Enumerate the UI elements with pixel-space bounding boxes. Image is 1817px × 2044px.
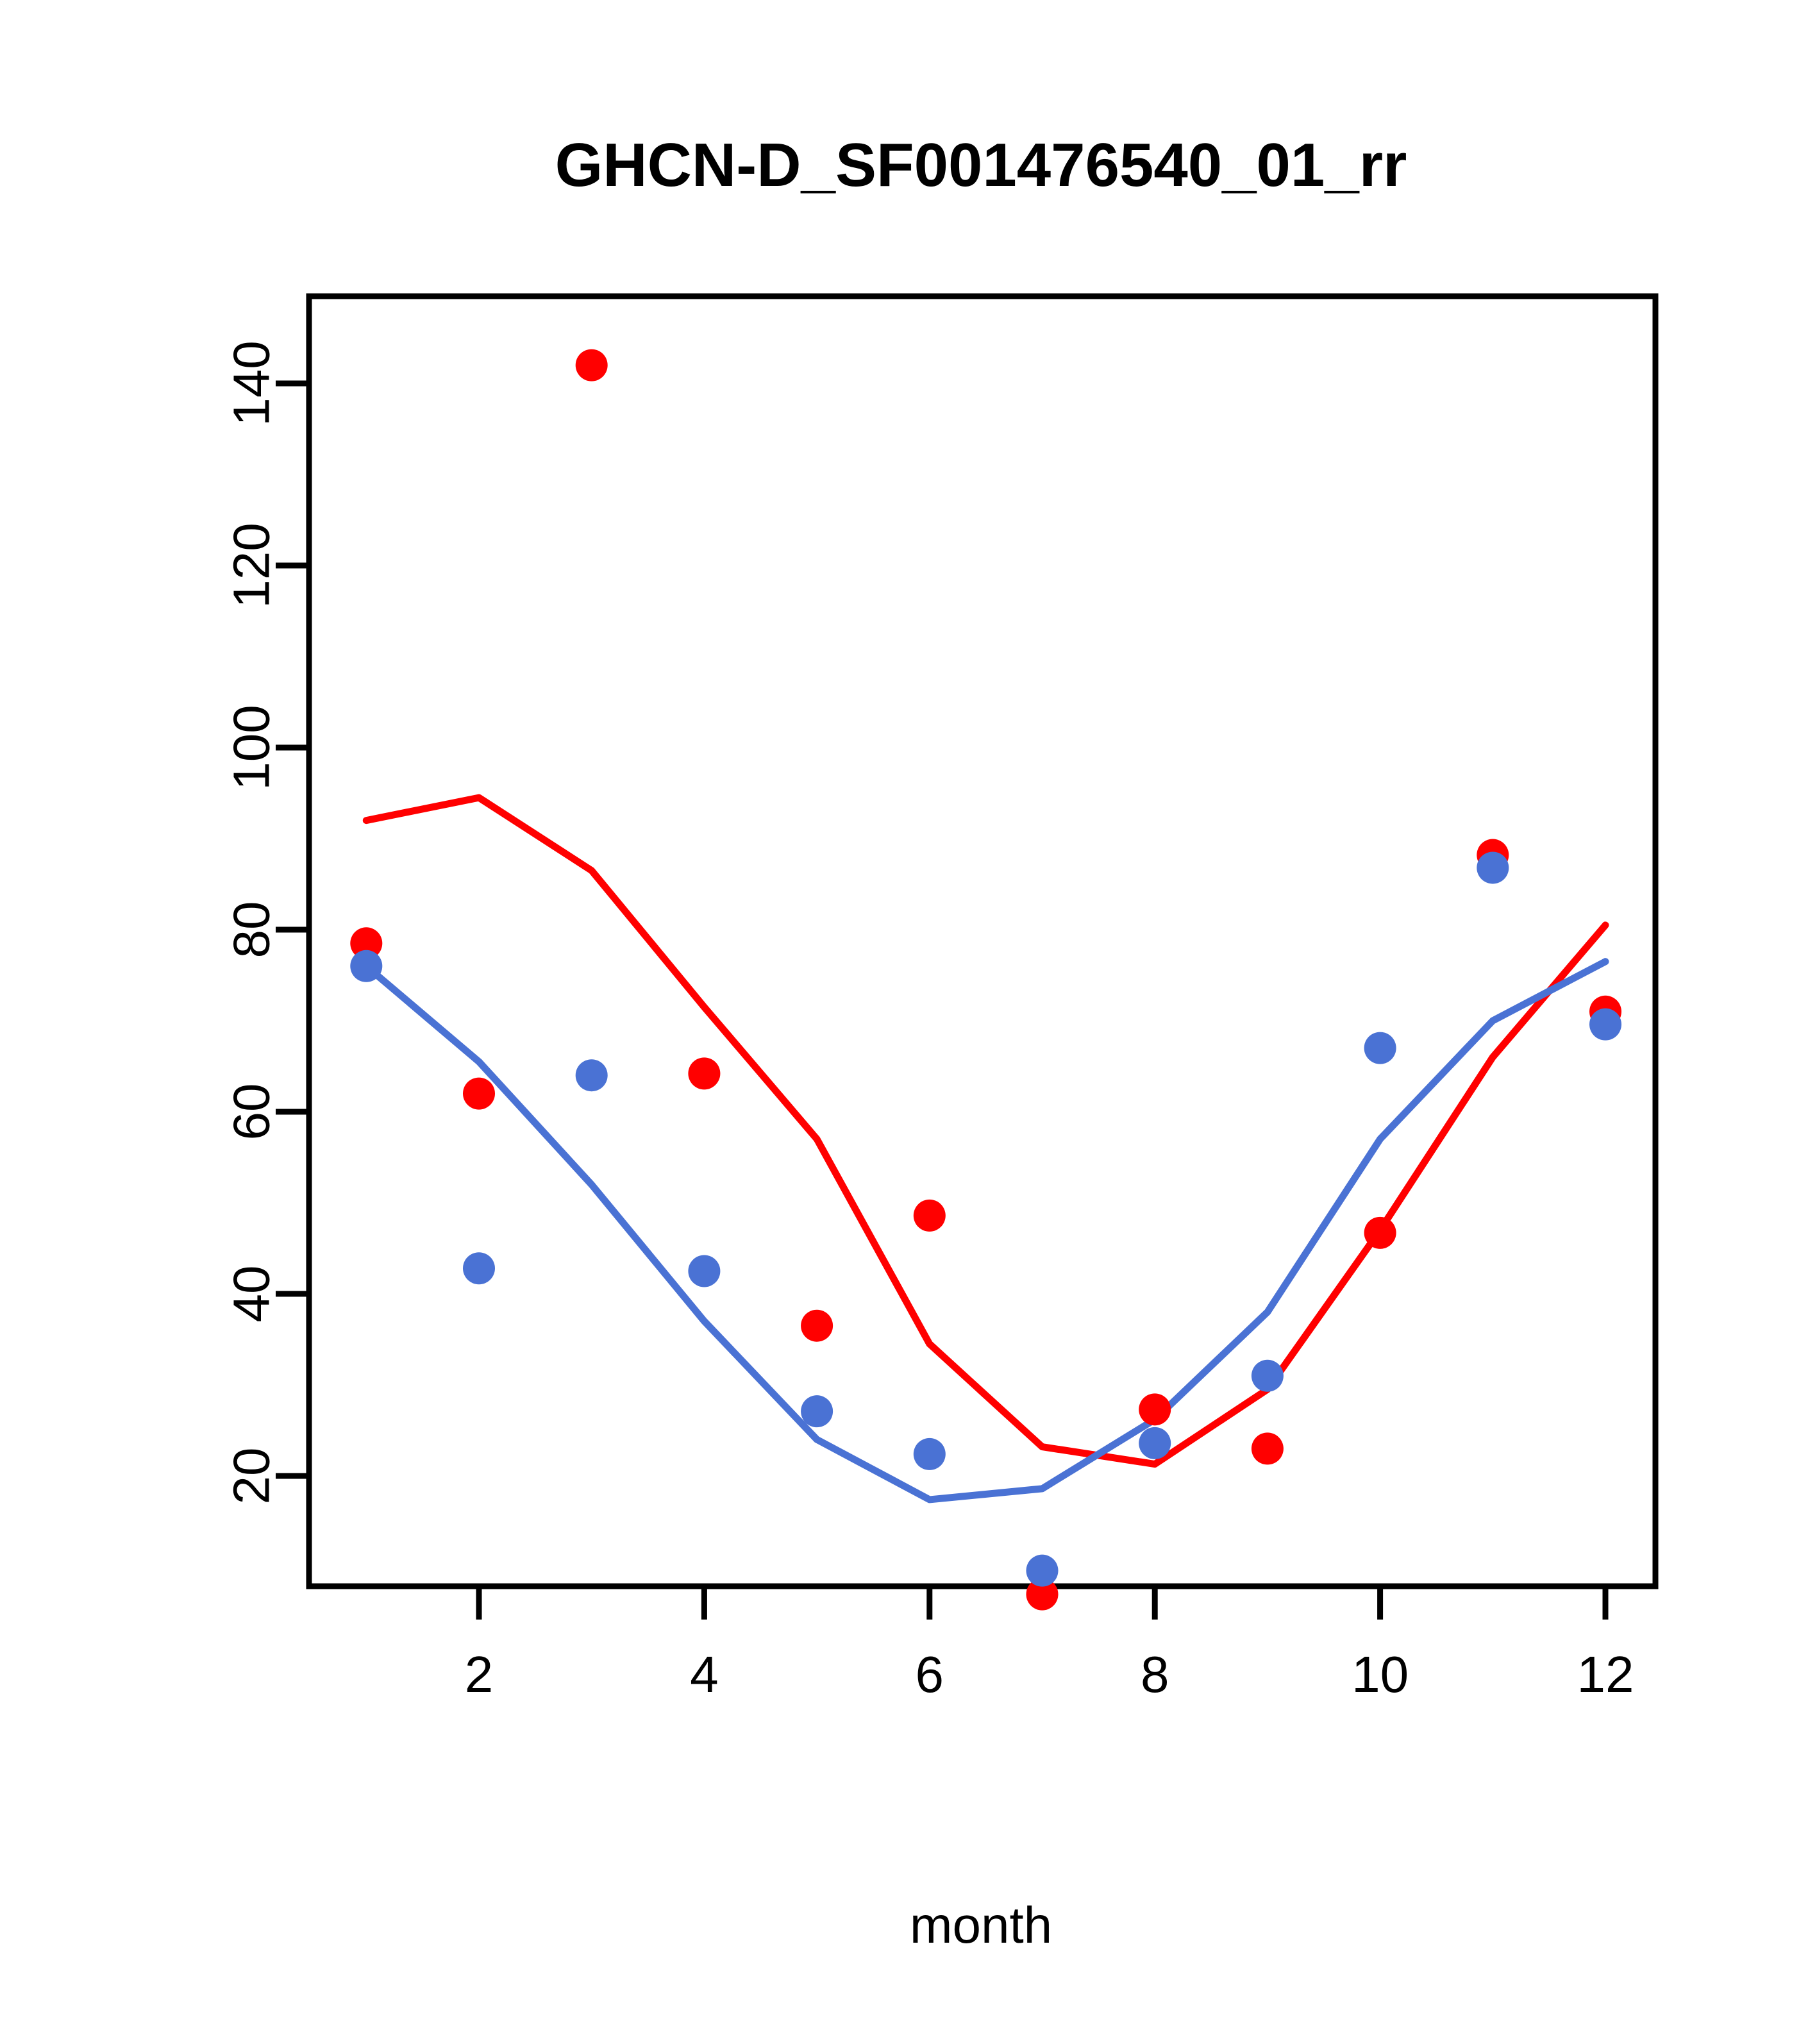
y-tick-label: 140	[223, 340, 280, 426]
y-tick-label: 120	[223, 523, 280, 608]
data-point-blue-points	[1139, 1427, 1171, 1459]
data-point-red-points	[801, 1310, 833, 1342]
x-tick-label: 10	[1352, 1646, 1409, 1703]
data-point-red-points	[914, 1200, 946, 1232]
data-point-red-points	[1364, 1217, 1396, 1249]
data-point-red-points	[463, 1078, 495, 1110]
data-point-blue-points	[914, 1438, 946, 1470]
data-point-blue-points	[350, 950, 382, 982]
data-point-red-points	[1252, 1432, 1284, 1464]
data-point-blue-points	[1026, 1555, 1059, 1587]
x-tick-label: 2	[465, 1646, 494, 1703]
chart-figure: GHCN-D_SF001476540_01_rr 204060801001201…	[0, 0, 1817, 2044]
data-point-red-points	[1139, 1393, 1171, 1425]
chart-canvas: GHCN-D_SF001476540_01_rr 204060801001201…	[0, 0, 1817, 2044]
data-point-blue-points	[688, 1255, 720, 1287]
data-point-blue-points	[1589, 1009, 1621, 1041]
x-axis-label: month	[910, 1897, 1052, 1954]
x-tick-label: 8	[1141, 1646, 1169, 1703]
y-tick-label: 80	[223, 901, 280, 959]
y-tick-label: 20	[223, 1448, 280, 1505]
figure-background	[0, 0, 1817, 2044]
x-tick-label: 6	[916, 1646, 944, 1703]
y-tick-label: 40	[223, 1266, 280, 1323]
data-point-blue-points	[1364, 1032, 1396, 1064]
data-point-blue-points	[576, 1059, 608, 1091]
data-point-blue-points	[463, 1252, 495, 1284]
data-point-blue-points	[1477, 851, 1509, 884]
x-tick-label: 12	[1577, 1646, 1634, 1703]
chart-title: GHCN-D_SF001476540_01_rr	[555, 131, 1407, 199]
y-tick-label: 100	[223, 705, 280, 790]
x-tick-label: 4	[690, 1646, 719, 1703]
data-point-red-points	[576, 349, 608, 381]
data-point-red-points	[688, 1057, 720, 1089]
data-point-blue-points	[1252, 1360, 1284, 1392]
y-tick-label: 60	[223, 1084, 280, 1141]
data-point-blue-points	[801, 1395, 833, 1427]
